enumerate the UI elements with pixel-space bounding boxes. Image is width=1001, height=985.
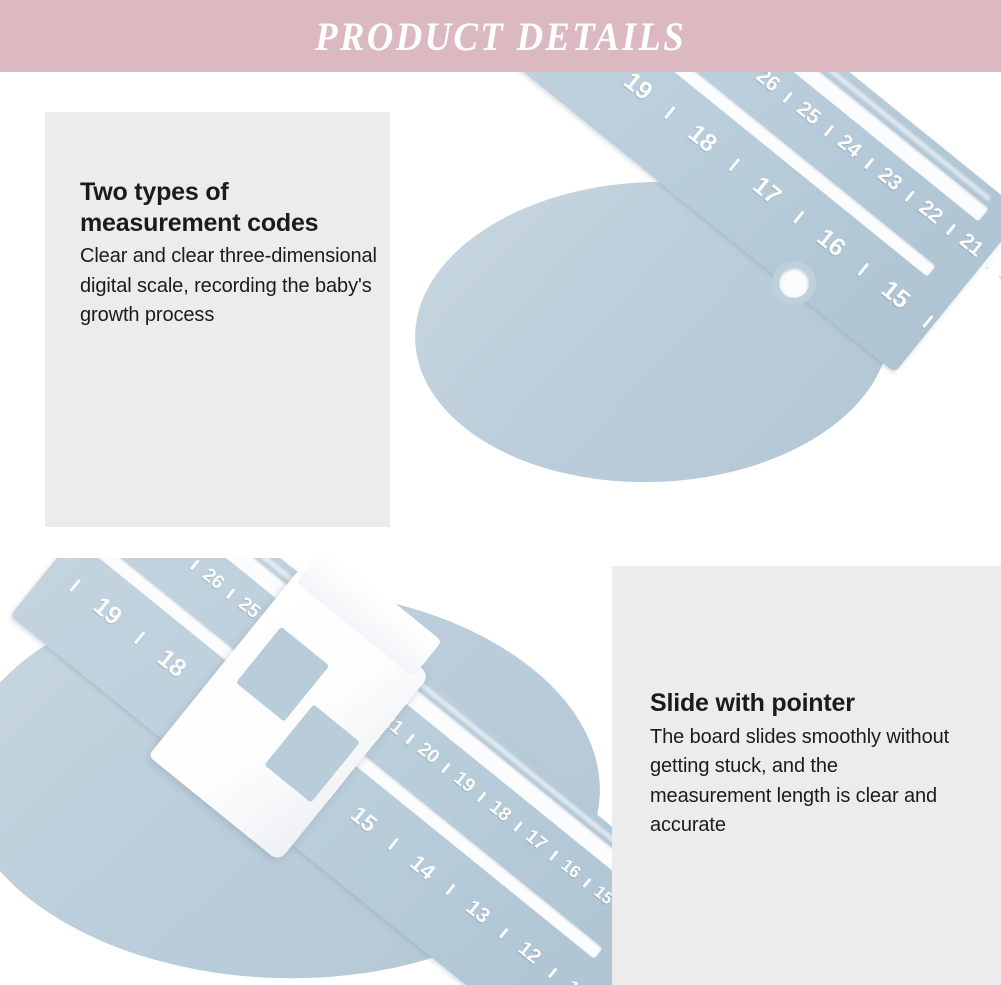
scale-tick — [857, 262, 869, 276]
feature-text-slide-with-pointer: Slide with pointer The board slides smoo… — [650, 688, 950, 841]
scale-number: 18 — [152, 644, 192, 684]
scale-tick — [823, 124, 834, 136]
feature-panel-slide-with-pointer: 28 27 26 25 24 23 22 21 20 19 — [0, 558, 1001, 985]
scale-tick — [549, 850, 559, 861]
scale-number: 18 — [485, 797, 515, 827]
scale-number: 19 — [449, 768, 479, 798]
scale-number: 22 — [914, 196, 947, 229]
scale-number: 18 — [682, 119, 722, 159]
scale-number: 16 — [811, 223, 851, 263]
scale-tick — [69, 579, 81, 593]
scale-tick — [513, 821, 523, 832]
feature-body: Clear and clear three-dimensional digita… — [80, 242, 380, 331]
scale-number: 24 — [832, 130, 865, 163]
feature-title: Two types of measurement codes — [80, 177, 380, 238]
scale-tick — [226, 588, 236, 599]
scale-number: 27 — [162, 558, 192, 566]
feature-body: The board slides smoothly without gettin… — [650, 723, 950, 841]
scale-number: 11 — [561, 976, 590, 985]
scale-number: 26 — [751, 72, 784, 97]
scale-tick — [783, 91, 794, 103]
scale-number: 20 — [995, 262, 1001, 295]
scale-number: 26 — [198, 564, 228, 594]
scale-number: 25 — [792, 97, 825, 130]
scale-number: 17 — [747, 171, 787, 211]
scale-number: 17 — [521, 826, 551, 856]
scale-tick — [728, 158, 740, 172]
scale-tick — [190, 559, 200, 570]
scale-tick — [133, 631, 145, 645]
scale-tick — [582, 877, 591, 887]
hang-hole — [779, 268, 809, 298]
scale-number: 13 — [461, 895, 494, 928]
scale-tick — [388, 837, 399, 850]
slider-window-right — [264, 704, 360, 802]
page-title: PRODUCT DETAILS — [315, 13, 686, 60]
feature-panel-measurement-codes: CHN 30 29 28 27 26 25 24 23 22 — [0, 72, 1001, 535]
scale-number: 19 — [87, 592, 127, 632]
feature-text-measurement-codes: Two types of measurement codes Clear and… — [80, 177, 380, 331]
scale-tick — [864, 157, 875, 169]
feature-title: Slide with pointer — [650, 688, 950, 719]
scale-number: 21 — [955, 229, 988, 262]
scale-tick — [664, 106, 676, 120]
scale-number: 23 — [873, 163, 906, 196]
scale-number: 16 — [557, 855, 584, 882]
scale-tick — [793, 210, 805, 224]
scale-number: 14 — [405, 849, 440, 885]
scale-tick — [445, 884, 456, 896]
scale-tick — [548, 967, 558, 978]
scale-number: 19 — [618, 72, 658, 107]
scale-tick — [922, 315, 934, 329]
scale-tick — [477, 792, 487, 803]
scale-number: 15 — [875, 275, 915, 315]
scale-tick — [986, 256, 997, 268]
scale-tick — [946, 223, 957, 235]
scale-tick — [499, 927, 509, 938]
scale-tick — [905, 190, 916, 202]
page-header-banner: PRODUCT DETAILS — [0, 0, 1001, 72]
scale-number: 12 — [513, 937, 545, 969]
